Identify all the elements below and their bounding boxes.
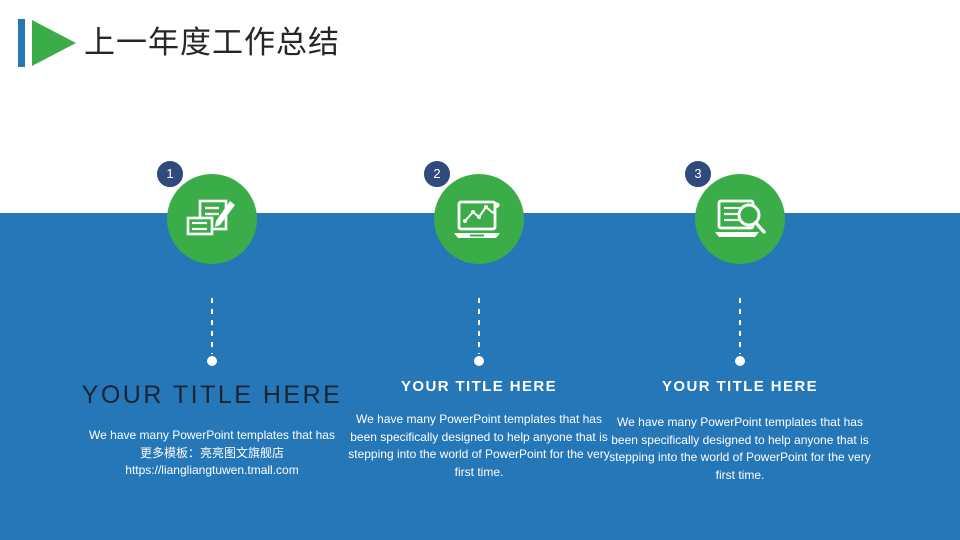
column-title-3: YOUR TITLE HERE <box>590 378 890 395</box>
column-body-1: We have many PowerPoint templates that h… <box>62 427 362 480</box>
connector-dashes-1 <box>211 298 213 354</box>
connector-dashes-3 <box>739 298 741 354</box>
column-title-2: YOUR TITLE HERE <box>329 378 629 395</box>
step-badge-1: 1 <box>155 159 185 189</box>
connector-dot-3 <box>735 356 745 366</box>
feature-column-2: 2 YOUR TITLE HERE We have many PowerPoin… <box>329 0 629 540</box>
connector-dashes-2 <box>478 298 480 354</box>
circle-shape <box>167 174 257 264</box>
feature-column-1: 1 YOUR TITLE HERE We have many PowerPoin… <box>62 0 362 540</box>
slide-canvas: 上一年度工作总结 1 YOUR TITLE HERE We have many … <box>0 0 960 540</box>
column-body-3: We have many PowerPoint templates that h… <box>590 414 890 484</box>
icon-circle-3[interactable]: 3 <box>695 174 785 264</box>
column-body-2: We have many PowerPoint templates that h… <box>329 411 629 481</box>
connector-dot-2 <box>474 356 484 366</box>
feature-column-3: 3 YOUR TITLE HERE We have many PowerPoin… <box>590 0 890 540</box>
circle-shape <box>434 174 524 264</box>
icon-circle-2[interactable]: 2 <box>434 174 524 264</box>
step-badge-3: 3 <box>683 159 713 189</box>
column-title-1: YOUR TITLE HERE <box>62 381 362 410</box>
laptop-search-icon <box>713 196 767 242</box>
document-pen-icon <box>186 196 238 242</box>
laptop-chart-icon <box>452 196 506 242</box>
logo-bar-icon <box>18 19 25 67</box>
icon-circle-1[interactable]: 1 <box>167 174 257 264</box>
connector-dot-1 <box>207 356 217 366</box>
step-badge-2: 2 <box>422 159 452 189</box>
circle-shape <box>695 174 785 264</box>
